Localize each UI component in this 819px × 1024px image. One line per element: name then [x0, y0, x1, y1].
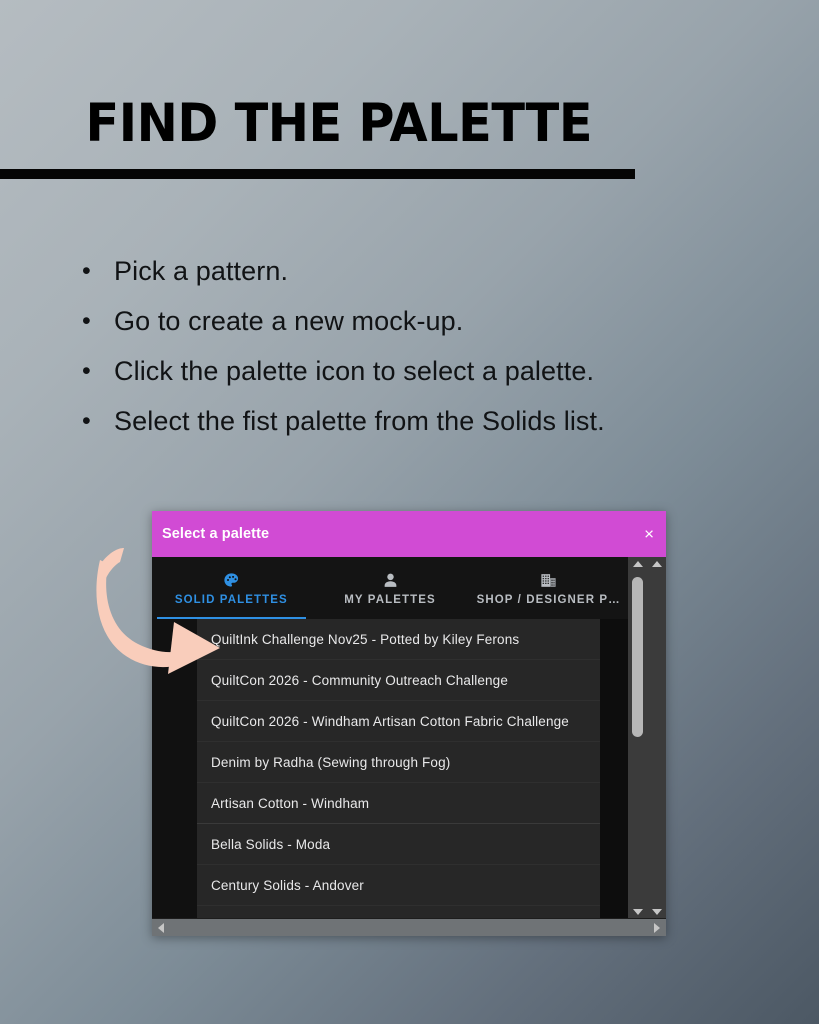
close-icon[interactable]: ×	[644, 526, 654, 543]
bullet-glyph: •	[82, 408, 114, 434]
list-item[interactable]: QuiltCon 2026 - Community Outreach Chall…	[197, 660, 600, 701]
dialog-body: SOLID PALETTES MY PALETTES	[152, 557, 666, 918]
instruction-text: Go to create a new mock-up.	[114, 308, 762, 335]
list-item[interactable]: QuiltCon 2026 - Windham Artisan Cotton F…	[197, 701, 600, 742]
title-block: FIND THE PALETTE	[0, 96, 660, 152]
instruction-text: Select the fist palette from the Solids …	[114, 408, 762, 435]
bullet-glyph: •	[82, 258, 114, 284]
list-left-gutter	[152, 619, 197, 918]
instruction-text: Click the palette icon to select a palet…	[114, 358, 762, 385]
scroll-track[interactable]	[647, 570, 666, 905]
tab-shop-designer-palettes[interactable]: SHOP / DESIGNER P…	[469, 557, 628, 619]
dialog-vertical-scrollbar[interactable]	[647, 557, 666, 918]
dialog-title: Select a palette	[152, 526, 269, 542]
building-icon	[539, 571, 558, 591]
scroll-track[interactable]	[170, 919, 648, 937]
list-item[interactable]: Denim by Radha (Sewing through Fog)	[197, 742, 600, 783]
instruction-list: • Pick a pattern. • Go to create a new m…	[82, 258, 762, 458]
scroll-track[interactable]	[628, 570, 647, 905]
dialog-horizontal-scrollbar[interactable]	[152, 918, 666, 936]
page-title: FIND THE PALETTE	[0, 96, 614, 152]
dialog-title-bar: Select a palette ×	[152, 511, 666, 557]
scroll-thumb[interactable]	[632, 577, 643, 738]
scroll-down-icon[interactable]	[647, 905, 666, 918]
vertical-scrollbar-stack	[628, 557, 666, 918]
list-item: • Select the fist palette from the Solid…	[82, 408, 762, 435]
palette-list: QuiltInk Challenge Nov25 - Potted by Kil…	[197, 619, 600, 918]
tab-label: SOLID PALETTES	[175, 594, 288, 606]
list-item[interactable]: Century Solids - Andover	[197, 865, 600, 906]
scroll-up-icon[interactable]	[628, 557, 647, 570]
bullet-glyph: •	[82, 308, 114, 334]
dialog-tabs: SOLID PALETTES MY PALETTES	[152, 557, 628, 619]
instruction-text: Pick a pattern.	[114, 258, 762, 285]
list-vertical-scrollbar[interactable]	[628, 557, 647, 918]
dialog-content: SOLID PALETTES MY PALETTES	[152, 557, 628, 918]
list-item[interactable]: QuiltInk Challenge Nov25 - Potted by Kil…	[197, 619, 600, 660]
palette-icon	[222, 571, 241, 591]
scroll-right-icon[interactable]	[648, 919, 666, 937]
list-item: • Click the palette icon to select a pal…	[82, 358, 762, 385]
list-item: • Go to create a new mock-up.	[82, 308, 762, 335]
scroll-left-icon[interactable]	[152, 919, 170, 937]
list-item[interactable]: Bella Solids - Moda	[197, 824, 600, 865]
list-item: • Pick a pattern.	[82, 258, 762, 285]
bullet-glyph: •	[82, 358, 114, 384]
list-region: QuiltInk Challenge Nov25 - Potted by Kil…	[152, 619, 628, 918]
select-palette-dialog: Select a palette × SOLID	[152, 511, 666, 936]
tab-solid-palettes[interactable]: SOLID PALETTES	[152, 557, 311, 619]
scroll-up-icon[interactable]	[647, 557, 666, 570]
title-underline-rule	[0, 169, 635, 179]
list-item[interactable]: Artisan Cotton - Windham	[197, 783, 600, 824]
scroll-down-icon[interactable]	[628, 905, 647, 918]
person-icon	[381, 571, 400, 591]
tab-my-palettes[interactable]: MY PALETTES	[311, 557, 470, 619]
tab-label: SHOP / DESIGNER P…	[477, 594, 621, 606]
tab-label: MY PALETTES	[344, 594, 436, 606]
